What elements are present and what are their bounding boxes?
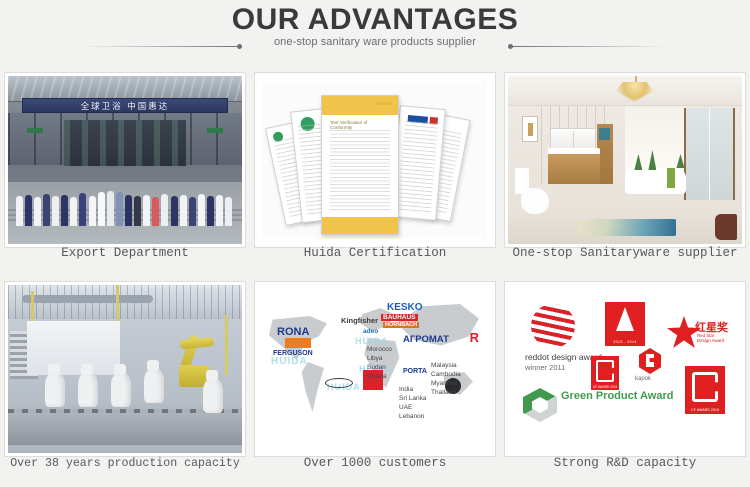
building-banner-text: 全球卫浴 中国惠达 bbox=[81, 100, 170, 112]
kapok-award-logo bbox=[639, 348, 661, 374]
home-depot-logo bbox=[285, 338, 311, 348]
country-india: India bbox=[399, 386, 413, 393]
ceramic-toilet bbox=[78, 373, 98, 407]
country-myanmar: Myanmar bbox=[431, 380, 458, 387]
advantages-grid: 全球卫浴 中国惠达 bbox=[0, 68, 750, 487]
brand-agromat: АГРОМАТ bbox=[403, 334, 449, 345]
brand-hornbach: HORNBACH bbox=[383, 322, 419, 328]
country-lebanon: Lebanon bbox=[399, 413, 424, 420]
tile-caption: Over 1000 customers bbox=[250, 456, 500, 470]
world-map: HUIDA HUIDA HUIDA HUIDA RONA FERGUSON Ki… bbox=[263, 290, 487, 448]
red-star-award-logo: 红星奖 Red Star Design Award bbox=[667, 316, 729, 350]
building-banner: 全球卫浴 中国惠达 bbox=[22, 98, 228, 113]
rd-capacity-card: reddot design award winner 2011 2013 - 2… bbox=[504, 281, 746, 457]
export-department-card: 全球卫浴 中国惠达 bbox=[4, 72, 246, 248]
wall-picture bbox=[522, 116, 538, 142]
country-sri-lanka: Sri Lanka bbox=[399, 395, 426, 402]
ceramic-toilet bbox=[45, 373, 65, 407]
chair bbox=[715, 214, 737, 240]
country-uae: UAE bbox=[399, 404, 412, 411]
country-malaysia: Malaysia bbox=[431, 362, 457, 369]
brand-adeo: adeo bbox=[363, 328, 378, 335]
brand-oval-logo bbox=[325, 378, 353, 388]
brand-kesko: KESKO bbox=[387, 302, 423, 313]
cf-award-large-label: CF AWARD 2019 bbox=[685, 408, 725, 412]
page-title: OUR ADVANTAGES bbox=[0, 3, 750, 37]
tile-caption: One-stop Sanitaryware supplier bbox=[500, 246, 750, 260]
brand-r-logo: R bbox=[470, 330, 479, 345]
tile-caption: Export Department bbox=[0, 246, 250, 260]
green-product-award-icon bbox=[523, 388, 557, 422]
chandelier bbox=[616, 76, 654, 104]
advantage-tile-huida-certification[interactable]: intertek Test Verification of Conformity… bbox=[250, 68, 500, 277]
kapok-award-label: kapok bbox=[635, 376, 651, 382]
brand-ferguson: FERGUSON bbox=[273, 350, 313, 357]
advantage-tile-export-department[interactable]: 全球卫浴 中国惠达 bbox=[0, 68, 250, 277]
ceramic-toilet bbox=[144, 369, 164, 403]
toilet bbox=[515, 168, 549, 214]
advantage-tile-sanitaryware-supplier[interactable]: One-stop Sanitaryware supplier bbox=[500, 68, 750, 277]
production-capacity-card bbox=[4, 281, 246, 457]
certification-photo: intertek Test Verification of Conformity bbox=[263, 81, 487, 239]
shower-enclosure bbox=[684, 108, 735, 200]
advantage-tile-production-capacity[interactable]: Over 38 years production capacity bbox=[0, 277, 250, 487]
sanitaryware-supplier-card bbox=[504, 72, 746, 248]
country-ghana: Ghana bbox=[367, 373, 387, 380]
certificate-title: Test Verification of Conformity bbox=[330, 120, 390, 127]
tile-caption: Strong R&D capacity bbox=[500, 456, 750, 470]
tile-caption: Huida Certification bbox=[250, 246, 500, 260]
a-design-award-logo: 2013 - 2014 bbox=[605, 302, 645, 346]
ceramic-toilet bbox=[203, 379, 223, 413]
reddot-award-year: winner 2011 bbox=[525, 363, 565, 372]
country-libya: Libya bbox=[367, 355, 383, 362]
huida-certification-card: intertek Test Verification of Conformity bbox=[254, 72, 496, 248]
country-cambodia: Cambodia bbox=[431, 371, 461, 378]
green-product-award-label: Green Product Award bbox=[561, 390, 673, 403]
intertek-logo: intertek bbox=[366, 101, 392, 108]
a-design-award-detail: 2013 - 2014 bbox=[605, 340, 645, 344]
country-thailand: Thailand bbox=[431, 389, 456, 396]
staff-crowd bbox=[11, 174, 239, 226]
customers-card: HUIDA HUIDA HUIDA HUIDA RONA FERGUSON Ki… bbox=[254, 281, 496, 457]
vanity-unit bbox=[548, 154, 600, 184]
advantage-tile-rd-capacity[interactable]: reddot design award winner 2011 2013 - 2… bbox=[500, 277, 750, 487]
brand-rona: RONA bbox=[277, 326, 309, 338]
country-sudan: Sudan bbox=[367, 364, 386, 371]
awards-collection: reddot design award winner 2011 2013 - 2… bbox=[513, 290, 737, 448]
cf-award-logo-small: CF AWARD 2019 bbox=[591, 356, 619, 390]
towel bbox=[667, 168, 675, 188]
page-header: OUR ADVANTAGES one-stop sanitary ware pr… bbox=[0, 0, 750, 68]
page-subtitle: one-stop sanitary ware products supplier bbox=[0, 36, 750, 48]
export-department-photo: 全球卫浴 中国惠达 bbox=[8, 76, 242, 244]
red-star-award-en: Red Star Design Award bbox=[697, 333, 729, 343]
tile-caption: Over 38 years production capacity bbox=[0, 457, 250, 470]
main-certificate-document: intertek Test Verification of Conformity bbox=[321, 95, 399, 235]
cf-award-logo-large: CF AWARD 2019 bbox=[685, 366, 725, 414]
brand-porta: PORTA bbox=[403, 368, 427, 375]
advantage-tile-customers[interactable]: HUIDA HUIDA HUIDA HUIDA RONA FERGUSON Ki… bbox=[250, 277, 500, 487]
factory-photo bbox=[8, 285, 242, 453]
brand-kingfisher: Kingfisher bbox=[341, 316, 378, 325]
reddot-globe-icon bbox=[531, 304, 575, 348]
bathroom-photo bbox=[508, 76, 742, 244]
country-morocco: Morocco bbox=[367, 346, 392, 353]
brand-bauhaus: BAUHAUS bbox=[381, 314, 418, 321]
bathtub bbox=[625, 168, 686, 194]
floor-rug bbox=[578, 219, 676, 236]
cf-award-small-label: CF AWARD 2019 bbox=[591, 385, 619, 389]
ceramic-toilet bbox=[111, 373, 131, 407]
